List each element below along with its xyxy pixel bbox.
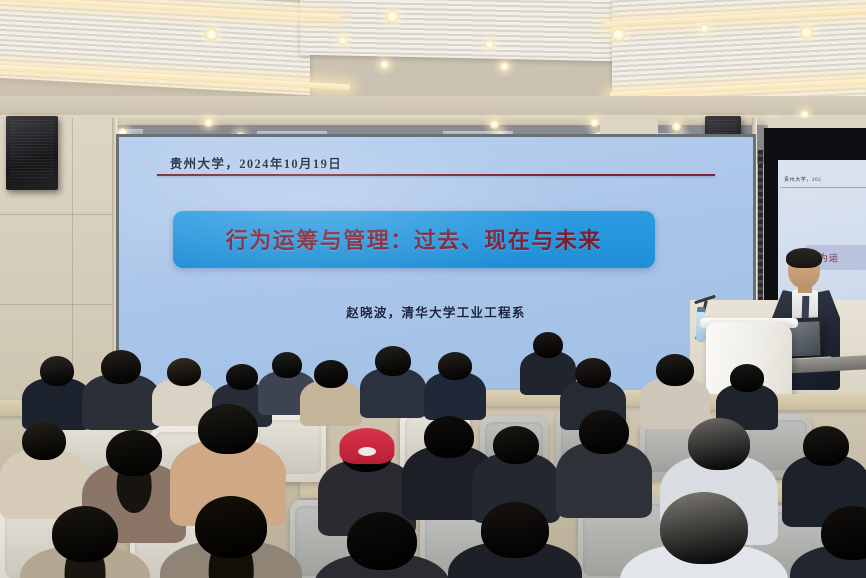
ceiling-downlight-icon: [672, 122, 681, 131]
slide-title-text: 行为运筹与管理：过去、现在与未来: [226, 223, 602, 255]
attendee-head: [438, 352, 472, 380]
ceiling-slat-panel-center: [300, 0, 620, 61]
attendee-head: [40, 356, 74, 386]
ceiling-downlight-icon: [338, 36, 347, 45]
ceiling-downlight-icon: [204, 118, 213, 127]
attendee-head: [226, 364, 258, 390]
attendee: [20, 506, 150, 578]
attendee-head: [533, 332, 563, 358]
attendee: [620, 492, 788, 578]
attendee-head: [52, 506, 118, 562]
attendee-head: [481, 502, 549, 558]
attendee: [300, 360, 362, 434]
slide-subtitle-text: 赵晓波，清华大学工业工程系: [119, 302, 753, 321]
attendee-head: [660, 492, 748, 564]
aux-slide-header-text: 贵州大学，202: [784, 176, 821, 183]
attendee-head: [167, 358, 201, 386]
attendee-head: [375, 346, 411, 376]
attendee-head: [101, 350, 141, 384]
ceiling-downlight-icon: [590, 118, 599, 127]
attendee-head: [656, 354, 694, 386]
ceiling-downlight-icon: [612, 28, 625, 41]
attendee-head: [347, 512, 417, 570]
ceiling-downlight-icon: [490, 120, 499, 129]
attendee-head: [195, 496, 267, 558]
attendee: [160, 496, 302, 578]
lecture-hall-photo: 贵州大学，2024年10月19日 行为运筹与管理：过去、现在与未来 赵晓波，清华…: [0, 0, 866, 578]
ceiling-downlight-icon: [500, 62, 509, 71]
ceiling-downlight-icon: [485, 40, 494, 49]
loudspeaker-icon: [6, 116, 58, 190]
ceiling-downlight-icon: [700, 24, 709, 33]
slide-title-box: 行为运筹与管理：过去、现在与未来: [173, 211, 655, 268]
audience-seating: [0, 330, 866, 578]
slide-header-text: 贵州大学，2024年10月19日: [170, 153, 342, 172]
attendee-head: [424, 416, 474, 458]
attendee-head: [106, 430, 162, 476]
attendee: [360, 346, 426, 426]
attendee-head: [493, 426, 539, 464]
attendee-baseball-cap-icon: [339, 428, 394, 464]
ceiling-downlight-icon: [380, 60, 389, 69]
attendee: [448, 502, 582, 578]
ceiling-downlight-icon: [800, 26, 813, 39]
attendee-head: [730, 364, 764, 392]
attendee-head: [314, 360, 348, 388]
ceiling-downlight-icon: [205, 28, 218, 41]
slide-horizontal-rule: [157, 174, 715, 176]
attendee-head: [22, 422, 66, 460]
presenter-tie: [802, 296, 810, 318]
aux-slide-rule: [780, 187, 866, 188]
attendee-head: [803, 426, 849, 466]
attendee-head: [198, 404, 258, 454]
attendee-head: [272, 352, 302, 378]
attendee-head: [575, 358, 611, 388]
ceiling-downlight-icon: [386, 10, 399, 23]
attendee: [314, 512, 450, 578]
attendee-head: [688, 418, 750, 470]
attendee-head: [821, 506, 866, 560]
attendee-head: [579, 410, 629, 454]
presenter-hair: [786, 248, 822, 268]
attendee: [790, 506, 866, 578]
attendee: [82, 350, 160, 440]
